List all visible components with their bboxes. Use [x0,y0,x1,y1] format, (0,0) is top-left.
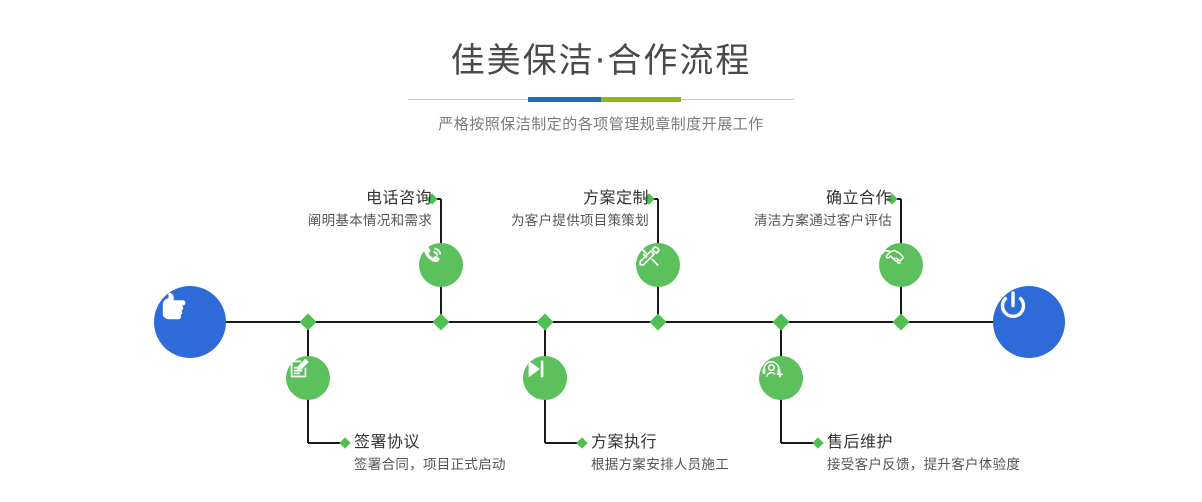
label-step-1-desc: 阐明基本情况和需求 [180,211,432,231]
flow-end-node[interactable] [993,286,1065,358]
label-step-3-desc: 为客户提供项目策策划 [400,211,649,231]
node-icon-step-3[interactable] [636,243,680,287]
flow-diagram: 电话咨询 阐明基本情况和需求 签署协议 签署合同，项目正式启动 [0,0,1202,502]
timeline-diamond-step-5 [893,314,910,331]
process-flow-infographic: 佳美保洁·合作流程 严格按照保洁制定的各项管理规章制度开展工作 [0,0,1202,502]
label-diamond-step-2 [339,437,350,448]
node-icon-step-1[interactable] [419,243,463,287]
timeline-diamond-step-1 [433,314,450,331]
label-step-1-title: 电话咨询 [180,188,432,208]
node-icon-step-6[interactable] [759,356,803,400]
label-step-6-title: 售后维护 [827,432,1147,452]
node-icon-step-4[interactable] [523,356,567,400]
label-step-5-desc: 清洁方案通过客户评估 [643,211,892,231]
node-icon-step-5[interactable] [879,243,923,287]
label-step-6: 售后维护 接受客户反馈，提升客户体验度 [827,432,1147,475]
timeline-diamond-step-4 [537,314,554,331]
flow-connectors [0,0,1202,502]
label-step-3-title: 方案定制 [400,188,649,208]
label-step-5-title: 确立合作 [643,188,892,208]
timeline-diamond-step-2 [300,314,317,331]
label-step-1: 电话咨询 阐明基本情况和需求 [180,188,432,231]
timeline-diamond-step-6 [773,314,790,331]
timeline-diamond-step-3 [650,314,667,331]
label-step-6-desc: 接受客户反馈，提升客户体验度 [827,455,1147,475]
node-icon-step-2[interactable] [286,356,330,400]
label-step-3: 方案定制 为客户提供项目策策划 [400,188,649,231]
label-step-5: 确立合作 清洁方案通过客户评估 [643,188,892,231]
label-diamonds [339,193,897,448]
flow-start-node[interactable] [154,286,226,358]
